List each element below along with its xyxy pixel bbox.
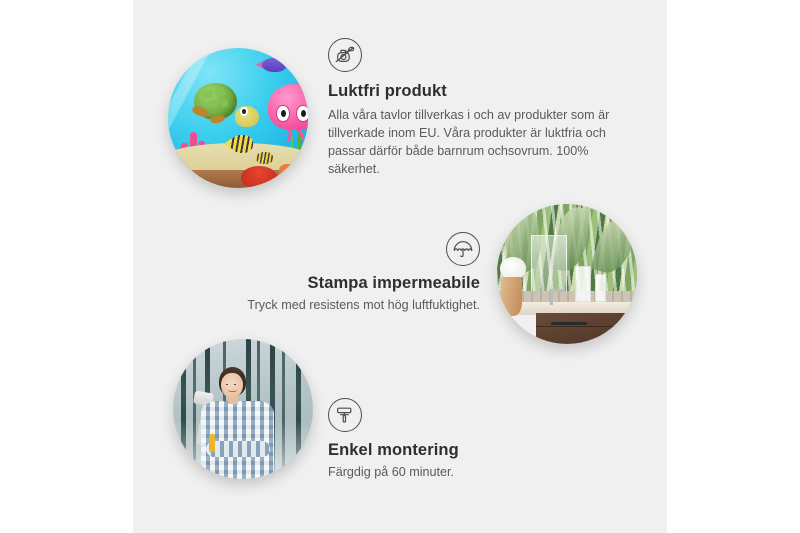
vanity-drawer <box>536 313 637 327</box>
feature-block-2: Stampa impermeabile Tryck med resistens … <box>210 232 480 315</box>
underwater-cartoon-scene-circle <box>168 48 308 188</box>
feature-body: Färgdig på 60 minuter. <box>328 464 618 482</box>
drawer-handle <box>551 322 587 325</box>
faucet <box>550 292 553 305</box>
ribbed-vase <box>501 277 522 316</box>
feature-block-1: Luktfri produkt Alla våra tavlor tillver… <box>328 38 628 179</box>
woman-painter-forest-wallpaper-circle <box>173 339 313 479</box>
small-yellow-fish <box>256 152 273 165</box>
crossed-arms <box>206 441 270 457</box>
feature-block-3: Enkel montering Färgdig på 60 minuter. <box>328 398 618 482</box>
octopus <box>255 84 308 157</box>
feature-title: Stampa impermeabile <box>210 274 480 293</box>
feature-title: Enkel montering <box>328 441 618 460</box>
sea-turtle <box>190 79 254 129</box>
mirror <box>531 235 567 294</box>
starfish <box>279 164 300 179</box>
woman-painter <box>195 367 282 479</box>
feature-body: Tryck med resistens mot hög luftfuktighe… <box>210 297 480 315</box>
tool-grip <box>209 434 215 452</box>
paint-roller-icon <box>328 398 362 432</box>
feature-title: Luktfri produkt <box>328 82 628 101</box>
purple-fish <box>262 58 286 72</box>
cabinet-handle <box>611 330 614 340</box>
toiletry-bottle <box>595 274 606 302</box>
no-scent-spray-bottle-icon <box>328 38 362 72</box>
umbrella-icon <box>446 232 480 266</box>
toiletry-bottle <box>575 266 590 302</box>
crab <box>241 166 277 188</box>
promo-infographic: Luktfri produkt Alla våra tavlor tillver… <box>0 0 800 533</box>
wood-vanity <box>536 313 637 344</box>
bathroom-tropical-wallpaper-circle <box>497 204 637 344</box>
feature-body: Alla våra tavlor tillverkas i och av pro… <box>328 107 628 179</box>
neck <box>228 396 238 404</box>
yellow-striped-fish <box>230 135 254 153</box>
